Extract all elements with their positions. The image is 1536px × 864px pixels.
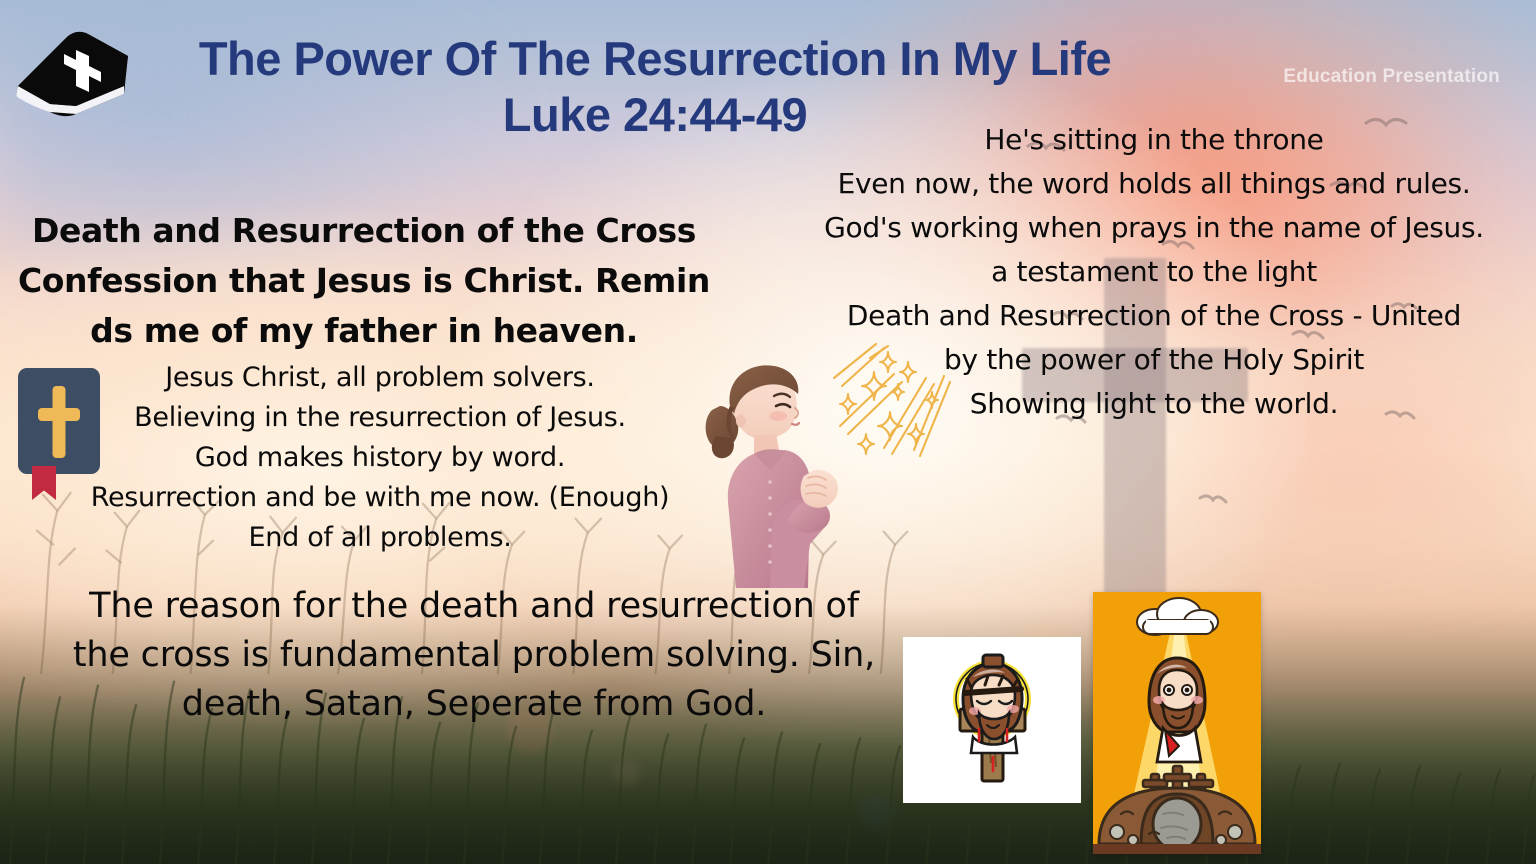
left-heading-line: Confession that Jesus is Christ. Remin <box>8 256 720 306</box>
jesus-resurrection-card <box>1093 592 1261 854</box>
right-column-line: God's working when prays in the name of … <box>780 206 1528 250</box>
right-column-line: a testament to the light <box>780 250 1528 294</box>
bottom-paragraph-line: The reason for the death and resurrectio… <box>34 582 914 631</box>
right-column-line: He's sitting in the throne <box>780 118 1528 162</box>
jesus-resurrection-tomb-illustration <box>1093 592 1261 854</box>
left-heading-block: Death and Resurrection of the Cross Conf… <box>8 206 720 356</box>
tomb-base-strip <box>1093 844 1261 854</box>
watermark-label: Education Presentation <box>1283 66 1500 88</box>
presentation-slide: The Power Of The Resurrection In My Life… <box>0 0 1536 864</box>
left-subtext-line: God makes history by word. <box>60 438 700 478</box>
cross-horizontal-bar <box>38 408 80 421</box>
left-subtext-line: Resurrection and be with me now. (Enough… <box>60 478 700 518</box>
cross-vertical-bar <box>53 386 66 458</box>
jesus-on-cross-illustration <box>903 637 1081 803</box>
left-subtext-line: End of all problems. <box>60 518 700 558</box>
right-column-line: Even now, the word holds all things and … <box>780 162 1528 206</box>
left-heading-line: Death and Resurrection of the Cross <box>8 206 720 256</box>
bottom-paragraph-block: The reason for the death and resurrectio… <box>34 582 914 729</box>
title-line-1: The Power Of The Resurrection In My Life <box>150 30 1160 88</box>
bottom-paragraph-line: death, Satan, Seperate from God. <box>34 680 914 729</box>
left-subtext-block: Jesus Christ, all problem solvers. Belie… <box>60 358 700 558</box>
left-heading-line: ds me of my father in heaven. <box>8 306 720 356</box>
left-subtext-line: Jesus Christ, all problem solvers. <box>60 358 700 398</box>
bible-with-cross-icon <box>18 368 100 474</box>
sparkle-stars-icon <box>822 330 962 470</box>
jesus-on-cross-card <box>903 637 1081 803</box>
bible-book-icon <box>6 22 136 118</box>
bottom-paragraph-line: the cross is fundamental problem solving… <box>34 631 914 680</box>
left-subtext-line: Believing in the resurrection of Jesus. <box>60 398 700 438</box>
